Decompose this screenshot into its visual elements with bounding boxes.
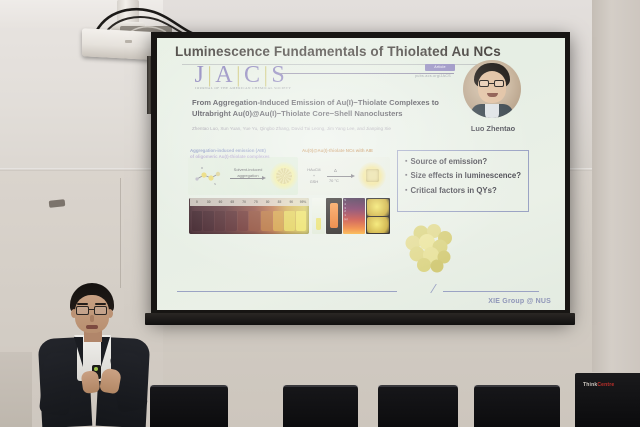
jacs-logo: J | A | C | S bbox=[192, 62, 287, 89]
chair bbox=[150, 385, 228, 427]
portrait-glasses-right bbox=[494, 80, 504, 87]
paper-title: From Aggregation-Induced Emission of Au(… bbox=[192, 98, 447, 120]
presenter-glasses-left bbox=[76, 306, 89, 315]
vial-label-0: 0 bbox=[191, 200, 203, 204]
vial bbox=[238, 211, 249, 231]
portrait-shirt bbox=[485, 104, 499, 118]
clicker-led-icon bbox=[94, 367, 98, 371]
reaction-temperature: 70 °C bbox=[329, 178, 339, 183]
jacs-letter-c: C bbox=[242, 62, 263, 89]
vial bbox=[203, 211, 214, 231]
presenter-lapel-left bbox=[74, 337, 83, 367]
portrait-image bbox=[463, 60, 521, 118]
presenter-glasses-right bbox=[94, 306, 107, 315]
molecular-structure-icon: R S bbox=[194, 165, 224, 187]
figure-panel-a-label: Aggregation-induced emission (AIE) of ol… bbox=[190, 148, 295, 161]
question-item: ▪ Size effects in luminescence? bbox=[405, 171, 521, 181]
presenter-brow-right bbox=[95, 303, 106, 305]
nanocluster-core-icon bbox=[366, 169, 379, 182]
presenter bbox=[22, 283, 164, 427]
bullet-dot-icon: ▪ bbox=[405, 171, 407, 181]
subpanel-vial-daylight bbox=[312, 198, 325, 234]
chair bbox=[378, 385, 458, 427]
questions-box: ▪ Source of emission? ▪ Size effects in … bbox=[397, 150, 529, 212]
vial bbox=[226, 211, 237, 231]
arrow-label-line1: Solvent-induced bbox=[234, 167, 263, 172]
vial bbox=[249, 211, 260, 231]
bioimage-bottom bbox=[367, 217, 389, 234]
reagent-gold-salt: HAuCl4 bbox=[304, 167, 324, 172]
projection-screen-frame: Luminescence Fundamentals of Thiolated A… bbox=[151, 32, 570, 320]
footer-rule-left bbox=[177, 291, 397, 292]
footer-rule-right bbox=[443, 291, 539, 292]
vial-label-2: 60 bbox=[215, 200, 227, 204]
vial-label-1: 30 bbox=[203, 200, 215, 204]
jacs-letter-a: A bbox=[213, 62, 235, 89]
jacs-subtitle: JOURNAL OF THE AMERICAN CHEMICAL SOCIETY bbox=[195, 86, 291, 90]
reaction-arrow-line bbox=[327, 176, 353, 177]
question-item: ▪ Critical factors in QYs? bbox=[405, 186, 521, 196]
jacs-letter-s: S bbox=[269, 62, 287, 89]
wall-right-pillar bbox=[592, 0, 640, 372]
article-badge: Article bbox=[425, 64, 455, 71]
vial-label-6: 80 bbox=[262, 200, 274, 204]
presenter-mouth bbox=[86, 325, 98, 329]
question-text: Critical factors in QYs? bbox=[410, 186, 496, 196]
reaction-delta-symbol: Δ bbox=[334, 168, 337, 173]
reagent-gsh: GSH bbox=[304, 179, 324, 184]
heatmap-axis-labels: 5 4 3 2 1 (e) bbox=[344, 199, 347, 222]
screen-bottom-bar bbox=[145, 313, 575, 325]
bioimage-top bbox=[367, 199, 389, 216]
portrait-photo bbox=[463, 60, 521, 118]
vial-label-5: 75 bbox=[250, 200, 262, 204]
vial-label-3: 65 bbox=[226, 200, 238, 204]
vial bbox=[215, 211, 226, 231]
svg-text:S: S bbox=[214, 182, 216, 186]
thinkcentre-device: ThinkCentre bbox=[575, 373, 640, 427]
slide-title: Luminescence Fundamentals of Thiolated A… bbox=[175, 44, 545, 59]
vial-label-7: 85 bbox=[274, 200, 286, 204]
presenter-brow-left bbox=[77, 303, 88, 305]
vial-percentage-labels: 0 30 60 65 70 75 80 85 90 95% bbox=[190, 198, 309, 206]
thinkcentre-logo-accent: Centre bbox=[597, 382, 614, 388]
presenter-glasses-bridge bbox=[89, 309, 94, 310]
presentation-slide: Luminescence Fundamentals of Thiolated A… bbox=[157, 38, 565, 310]
subpanel-bioimaging bbox=[366, 198, 390, 234]
vial-label-4: 70 bbox=[238, 200, 250, 204]
paper-authors: Zhentao Luo, Xun Yuan, Yue Yu, Qingbo Zh… bbox=[192, 126, 427, 133]
bullet-dot-icon: ▪ bbox=[405, 186, 407, 196]
portrait-caption: Luo Zhentao bbox=[455, 124, 531, 133]
vial bbox=[273, 211, 284, 231]
projector-indicator-led bbox=[125, 40, 132, 43]
vial bbox=[192, 211, 203, 231]
question-item: ▪ Source of emission? bbox=[405, 157, 521, 167]
vial bbox=[284, 211, 295, 231]
footer-group-label: XIE Group @ NUS bbox=[488, 298, 551, 305]
presenter-nose bbox=[90, 315, 94, 322]
aggregate-glow-icon bbox=[270, 162, 298, 190]
chair bbox=[474, 385, 560, 427]
question-text: Source of emission? bbox=[410, 157, 487, 167]
vial-label-9: 95% bbox=[297, 200, 309, 204]
figure-subpanels: 5 4 3 2 1 (e) bbox=[312, 198, 390, 234]
aggregation-arrow-head bbox=[262, 176, 266, 180]
wall-joint-line bbox=[120, 178, 121, 288]
heatmap-label-e: (e) bbox=[344, 218, 347, 222]
subpanel-vial-uv bbox=[326, 198, 342, 234]
subpanel-heatmap: 5 4 3 2 1 (e) bbox=[343, 198, 365, 234]
vial bbox=[261, 211, 272, 231]
reagent-plus-sign: + bbox=[304, 173, 324, 178]
vial-row bbox=[190, 207, 308, 233]
vial-label-8: 90 bbox=[285, 200, 297, 204]
bullet-dot-icon: ▪ bbox=[405, 157, 407, 167]
question-text: Size effects in luminescence? bbox=[410, 171, 521, 181]
aggregation-arrow-line bbox=[230, 178, 264, 179]
portrait-glasses-left bbox=[479, 80, 489, 87]
lecture-room: Luminescence Fundamentals of Thiolated A… bbox=[0, 0, 640, 427]
vial bbox=[296, 211, 307, 231]
figure-panel-b-title: Au(0)@Au(I)-thiolate NCs with AIE bbox=[302, 148, 390, 153]
portrait-face bbox=[478, 71, 506, 103]
presenter-lapel-right bbox=[101, 337, 110, 367]
gold-nanocluster-icon bbox=[401, 223, 459, 273]
thinkcentre-logo: ThinkCentre bbox=[583, 382, 614, 388]
presenter-hand-left bbox=[81, 370, 101, 394]
vial-series-photo: 0 30 60 65 70 75 80 85 90 95% bbox=[189, 198, 309, 234]
svg-text:R: R bbox=[201, 166, 204, 170]
chair bbox=[283, 385, 358, 427]
figure-panel-a-subtitle: of oligomeric Au(I)-thiolate complexes bbox=[190, 154, 295, 160]
journal-url: pubs.acs.org/JACS bbox=[415, 74, 451, 78]
figure-graphic: Aggregation-induced emission (AIE) of ol… bbox=[190, 148, 386, 236]
jacs-letter-j: J bbox=[192, 62, 206, 89]
portrait-glasses-bridge bbox=[489, 83, 494, 84]
reaction-arrow-head bbox=[351, 174, 355, 178]
